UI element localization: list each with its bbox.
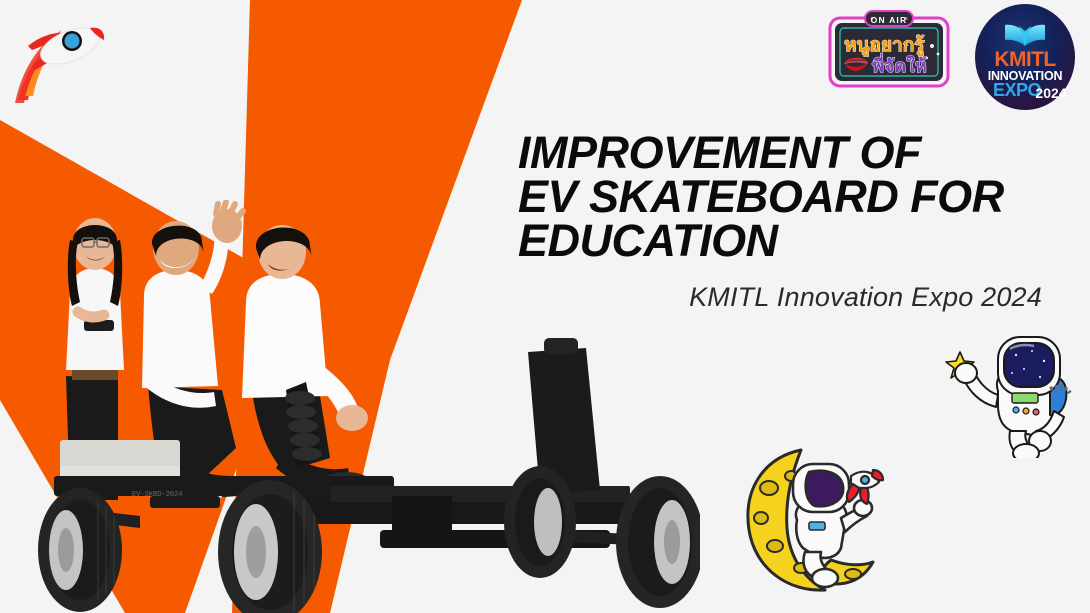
kmitl-innovation-expo-logo: KMITL INNOVATION EXPO 2024: [973, 3, 1077, 111]
waving-hand: [212, 202, 243, 243]
chassis-marking: EV-SKBD-2024: [132, 491, 182, 499]
mini-rocket-icon: [847, 470, 883, 504]
visor: [1004, 343, 1054, 387]
astronaut-on-moon-illustration: [735, 442, 885, 602]
expo-wordmark: EXPO: [993, 80, 1042, 100]
expo-year: 2024: [1035, 85, 1066, 101]
thai-headline-line-1: หนูอยากรู้: [844, 34, 925, 57]
rocket-window-icon: [62, 31, 82, 51]
rocket-logo: [10, 8, 110, 108]
on-air-badge: ON AIR: [865, 11, 913, 26]
thai-headline-line-2: พี่จัดให้: [872, 53, 927, 76]
boot: [812, 569, 838, 587]
glove: [955, 363, 977, 383]
hand: [336, 405, 368, 431]
floating-astronaut-illustration: [940, 333, 1080, 458]
wheel-front-left: [38, 488, 122, 612]
on-air-badge-label: ON AIR: [871, 15, 908, 25]
rim: [534, 488, 562, 556]
visor: [806, 471, 844, 507]
poster-canvas: ON AIR หนูอยากรู้ พี่จัดให้: [0, 0, 1090, 613]
boot: [1013, 444, 1039, 458]
chest-panel: [809, 522, 825, 530]
arm: [78, 312, 104, 317]
page-title: IMPROVEMENT OF EV SKATEBOARD FOR EDUCATI…: [518, 131, 1048, 263]
headline-block: IMPROVEMENT OF EV SKATEBOARD FOR EDUCATI…: [518, 131, 1048, 313]
page-subtitle: KMITL Innovation Expo 2024: [518, 282, 1048, 313]
astronaut-helmet: [998, 337, 1060, 395]
wheel-rear-right: [616, 476, 700, 608]
wheel-rear-left: [504, 466, 576, 578]
svg-text:พี่จัดให้: พี่จัดให้: [872, 53, 927, 76]
on-air-show-logo: ON AIR หนูอยากรู้ พี่จัดให้: [824, 8, 954, 96]
kmitl-wordmark: KMITL: [994, 48, 1056, 71]
astronaut-helmet: [793, 464, 849, 512]
svg-text:หนูอยากรู้: หนูอยากรู้: [844, 34, 925, 57]
